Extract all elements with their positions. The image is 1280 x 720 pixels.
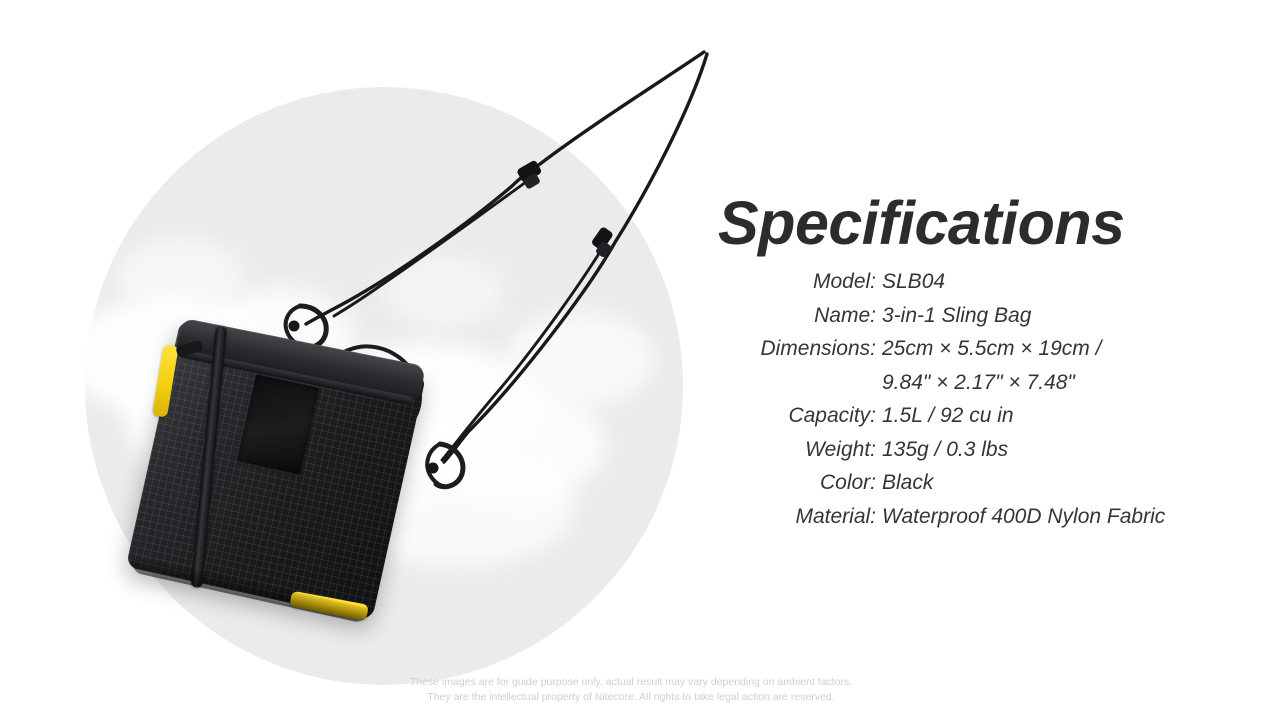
table-row: Material: Waterproof 400D Nylon Fabric bbox=[700, 500, 1264, 534]
spec-label-model: Model: bbox=[700, 265, 882, 299]
spec-label-capacity: Capacity: bbox=[700, 399, 882, 433]
spec-value-dimensions: 25cm × 5.5cm × 19cm / bbox=[882, 332, 1264, 366]
spec-value-material: Waterproof 400D Nylon Fabric bbox=[882, 500, 1264, 534]
disclaimer-line-2: They are the intellectual property of Ni… bbox=[0, 690, 1280, 705]
spec-value-name: 3-in-1 Sling Bag bbox=[882, 299, 1264, 333]
spec-label-color: Color: bbox=[700, 466, 882, 500]
specifications-table: Model: SLB04 Name: 3-in-1 Sling Bag Dime… bbox=[700, 265, 1264, 533]
spec-value-capacity: 1.5L / 92 cu in bbox=[882, 399, 1264, 433]
table-row: 9.84" × 2.17" × 7.48" bbox=[700, 366, 1264, 400]
spec-value-weight: 135g / 0.3 lbs bbox=[882, 433, 1264, 467]
page-title: Specifications bbox=[718, 188, 1125, 258]
strap-cord-right bbox=[444, 54, 707, 462]
spec-label-dimensions: Dimensions: bbox=[700, 332, 882, 366]
spec-label-material: Material: bbox=[700, 500, 882, 534]
table-row: Color: Black bbox=[700, 466, 1264, 500]
disclaimer-line-1: These images are for guide purpose only,… bbox=[0, 675, 1280, 690]
table-row: Dimensions: 25cm × 5.5cm × 19cm / bbox=[700, 332, 1264, 366]
spec-value-color: Black bbox=[882, 466, 1264, 500]
table-row: Name: 3-in-1 Sling Bag bbox=[700, 299, 1264, 333]
table-row: Weight: 135g / 0.3 lbs bbox=[700, 433, 1264, 467]
spec-value-model: SLB04 bbox=[882, 265, 1264, 299]
strap-cord-left bbox=[306, 52, 704, 324]
specifications-panel: Specifications Model: SLB04 Name: 3-in-1… bbox=[700, 0, 1280, 660]
spec-label-name: Name: bbox=[700, 299, 882, 333]
strap-cord-tail-lower bbox=[442, 252, 600, 460]
product-image bbox=[0, 0, 700, 720]
sling-bag bbox=[126, 321, 427, 622]
spec-label-weight: Weight: bbox=[700, 433, 882, 467]
spec-label-dimensions-continued bbox=[700, 366, 882, 400]
table-row: Capacity: 1.5L / 92 cu in bbox=[700, 399, 1264, 433]
disclaimer: These images are for guide purpose only,… bbox=[0, 675, 1280, 705]
spec-value-dimensions-continued: 9.84" × 2.17" × 7.48" bbox=[882, 366, 1264, 400]
table-row: Model: SLB04 bbox=[700, 265, 1264, 299]
carabiner-right-icon bbox=[427, 444, 463, 487]
